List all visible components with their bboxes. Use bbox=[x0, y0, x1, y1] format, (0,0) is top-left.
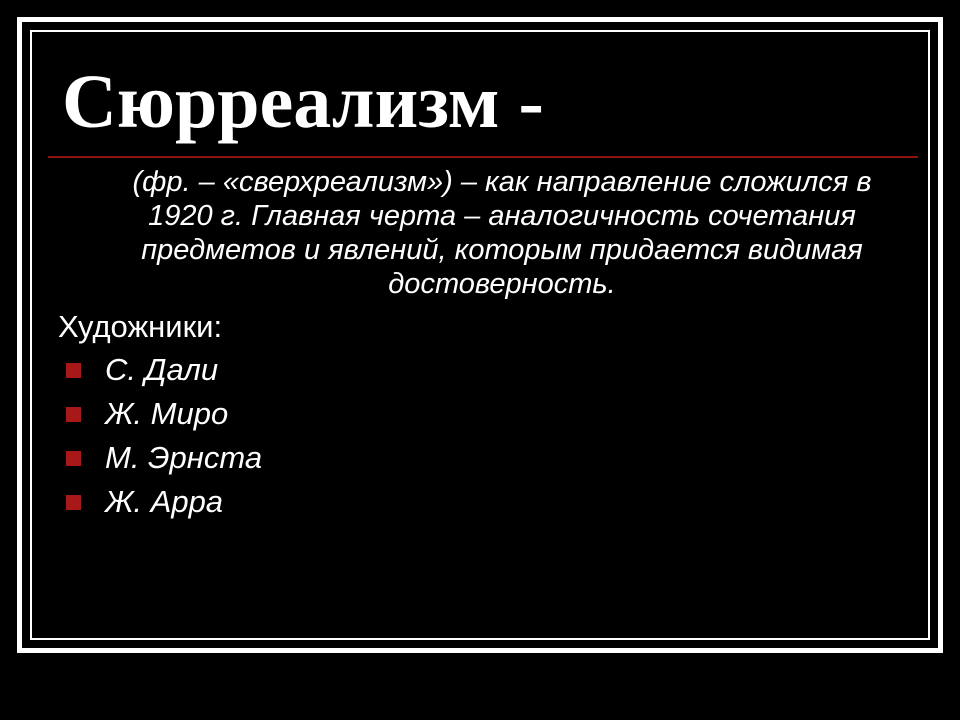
artists-list: С. Дали Ж. Миро М. Эрнста Ж. Арра bbox=[46, 348, 914, 524]
list-item: Ж. Миро bbox=[58, 392, 914, 436]
square-bullet-icon bbox=[66, 407, 81, 422]
artist-name: С. Дали bbox=[105, 352, 218, 388]
list-item: Ж. Арра bbox=[58, 480, 914, 524]
definition-paragraph: (фр. – «сверхреализм») – как направление… bbox=[46, 166, 914, 302]
artist-name: М. Эрнста bbox=[105, 440, 262, 476]
list-item: С. Дали bbox=[58, 348, 914, 392]
square-bullet-icon bbox=[66, 363, 81, 378]
presentation-slide: Сюрреализм - (фр. – «сверхреализм») – ка… bbox=[0, 0, 960, 720]
slide-title: Сюрреализм - bbox=[46, 46, 914, 140]
square-bullet-icon bbox=[66, 451, 81, 466]
square-bullet-icon bbox=[66, 495, 81, 510]
artist-name: Ж. Миро bbox=[105, 396, 228, 432]
slide-content: Сюрреализм - (фр. – «сверхреализм») – ка… bbox=[46, 46, 914, 624]
list-item: М. Эрнста bbox=[58, 436, 914, 480]
artists-heading: Художники: bbox=[46, 308, 914, 347]
artist-name: Ж. Арра bbox=[105, 484, 223, 520]
title-divider-rule bbox=[48, 156, 918, 158]
